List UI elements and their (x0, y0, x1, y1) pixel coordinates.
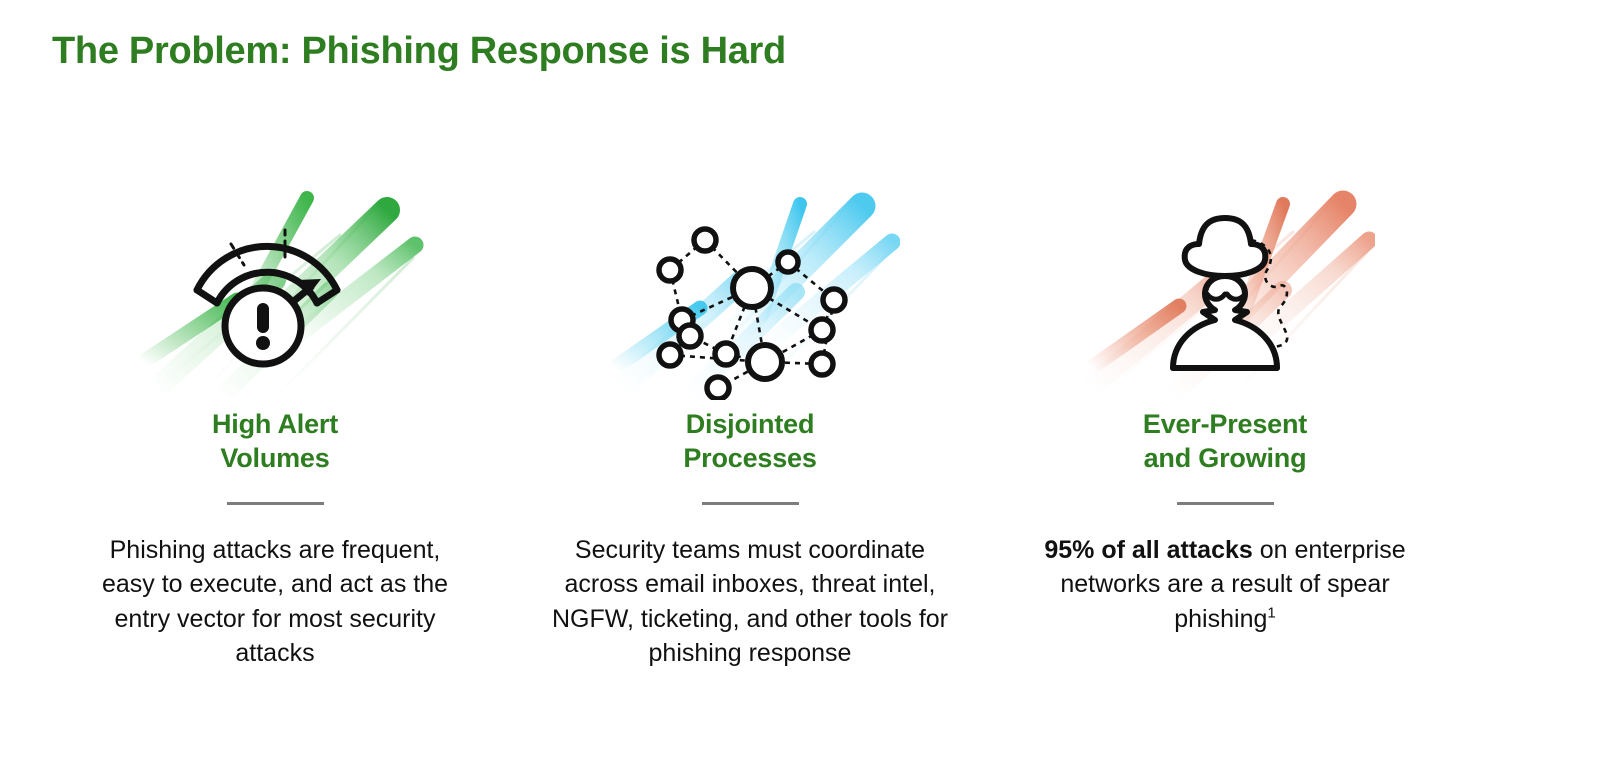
feature-body: Security teams must coordinate across em… (550, 533, 950, 671)
slide-canvas: The Problem: Phishing Response is Hard (0, 0, 1600, 760)
alert-gauge-icon (125, 140, 425, 400)
feature-heading: Disjointed Processes (683, 408, 816, 476)
feature-column-high-alert-volumes: High Alert Volumes Phishing attacks are … (60, 140, 490, 671)
feature-body-highlight: 95% of all attacks (1044, 536, 1252, 564)
feature-heading: Ever-Present and Growing (1143, 408, 1307, 476)
feature-columns: High Alert Volumes Phishing attacks are … (60, 140, 1540, 740)
heading-divider (1177, 502, 1274, 505)
footnote-marker: 1 (1267, 604, 1275, 621)
feature-body: Phishing attacks are frequent, easy to e… (85, 533, 465, 671)
feature-column-disjointed-processes: Disjointed Processes Security teams must… (535, 140, 965, 671)
network-nodes-icon (600, 140, 900, 400)
heading-divider (227, 502, 324, 505)
page-title: The Problem: Phishing Response is Hard (52, 30, 786, 73)
feature-body-text: Security teams must coordinate across em… (552, 536, 948, 668)
feature-heading: High Alert Volumes (212, 408, 338, 476)
heading-divider (702, 502, 799, 505)
feature-body: 95% of all attacks on enterprise network… (1035, 533, 1415, 637)
hacker-spy-icon (1075, 140, 1375, 400)
feature-body-text: Phishing attacks are frequent, easy to e… (102, 536, 448, 668)
feature-column-ever-present-and-growing: Ever-Present and Growing 95% of all atta… (1010, 140, 1440, 636)
